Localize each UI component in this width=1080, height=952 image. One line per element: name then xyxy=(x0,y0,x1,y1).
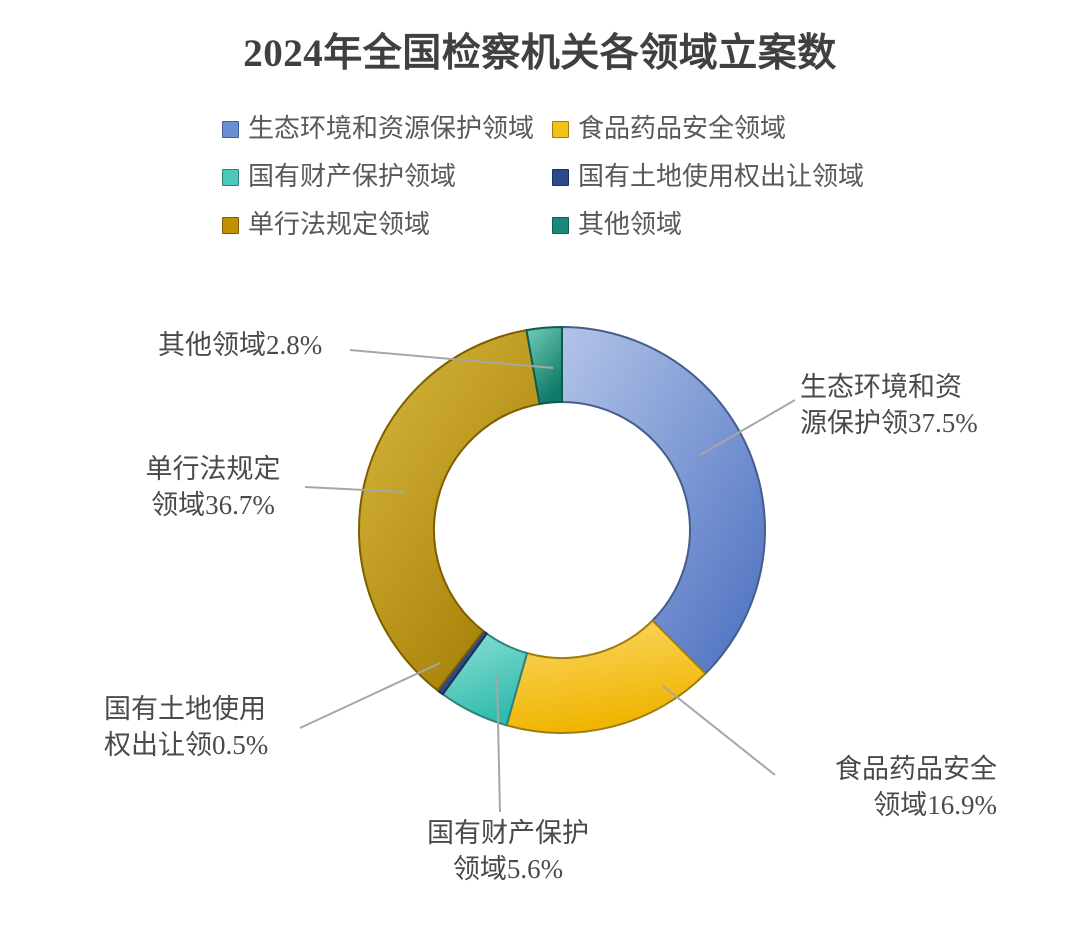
data-label-state-property: 国有财产保护 领域5.6% xyxy=(408,816,608,887)
data-label-other: 其他领域2.8% xyxy=(158,328,388,364)
donut-slice-2[interactable] xyxy=(443,634,527,726)
chart-title: 2024年全国检察机关各领域立案数 xyxy=(0,22,1080,78)
legend-item-eco[interactable]: 生态环境和资源保护领域 xyxy=(222,116,552,142)
leader-line-food xyxy=(663,686,775,775)
donut-slice-0[interactable] xyxy=(562,327,765,674)
legend-label-special-law: 单行法规定领域 xyxy=(248,212,430,238)
legend-swatch-special-law xyxy=(222,217,239,234)
data-label-eco: 生态环境和资 源保护领37.5% xyxy=(800,370,1020,441)
donut-chart-figure: 2024年全国检察机关各领域立案数 生态环境和资源保护领域 食品药品安全领域 国… xyxy=(0,0,1080,952)
data-label-food: 食品药品安全 领域16.9% xyxy=(782,752,997,823)
legend-label-eco: 生态环境和资源保护领域 xyxy=(248,116,534,142)
legend-swatch-state-property xyxy=(222,169,239,186)
leader-line-special-law xyxy=(305,487,405,492)
legend-swatch-other xyxy=(552,217,569,234)
legend-item-special-law[interactable]: 单行法规定领域 xyxy=(222,212,552,238)
leader-line-state-property xyxy=(497,675,500,812)
legend-item-land-use[interactable]: 国有土地使用权出让领域 xyxy=(552,164,882,190)
donut-slice-4[interactable] xyxy=(359,330,540,690)
legend-swatch-land-use xyxy=(552,169,569,186)
leader-lines xyxy=(300,350,795,812)
chart-legend: 生态环境和资源保护领域 食品药品安全领域 国有财产保护领域 国有土地使用权出让领… xyxy=(222,105,882,249)
legend-label-state-property: 国有财产保护领域 xyxy=(248,164,456,190)
legend-item-other[interactable]: 其他领域 xyxy=(552,212,882,238)
legend-swatch-food xyxy=(552,121,569,138)
donut-slice-1[interactable] xyxy=(507,621,706,733)
data-label-land-use: 国有土地使用 权出让领0.5% xyxy=(104,692,334,763)
legend-item-state-property[interactable]: 国有财产保护领域 xyxy=(222,164,552,190)
leader-line-eco xyxy=(700,400,795,455)
legend-label-food: 食品药品安全领域 xyxy=(578,116,786,142)
legend-item-food[interactable]: 食品药品安全领域 xyxy=(552,116,882,142)
legend-label-other: 其他领域 xyxy=(578,212,682,238)
donut-slices xyxy=(359,327,765,733)
legend-swatch-eco xyxy=(222,121,239,138)
data-label-special-law: 单行法规定 领域36.7% xyxy=(118,452,308,523)
legend-label-land-use: 国有土地使用权出让领域 xyxy=(578,164,864,190)
donut-slice-5[interactable] xyxy=(526,327,562,404)
donut-slice-3[interactable] xyxy=(438,631,487,694)
